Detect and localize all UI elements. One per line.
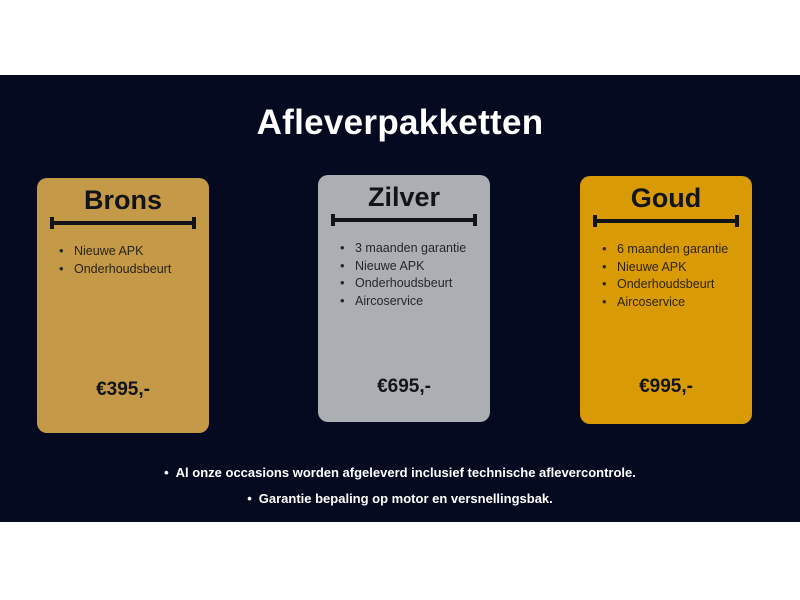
footnote-2: •Garantie bepaling op motor en versnelli… — [0, 486, 800, 512]
page-title: Afleverpakketten — [0, 103, 800, 143]
divider-cap-right-icon — [473, 214, 477, 226]
list-item: 3 maanden garantie — [340, 240, 490, 258]
package-price-zilver: €695,- — [318, 376, 490, 398]
feature-list-brons: Nieuwe APK Onderhoudsbeurt — [37, 229, 209, 278]
list-item: Nieuwe APK — [59, 243, 209, 261]
package-title-brons: Brons — [37, 178, 209, 215]
list-item: Onderhoudsbeurt — [340, 275, 490, 293]
package-price-goud: €995,- — [580, 376, 752, 398]
list-item: Onderhoudsbeurt — [602, 276, 752, 294]
divider-bar-icon — [331, 218, 477, 222]
footnote-1-text: Al onze occasions worden afgeleverd incl… — [176, 465, 636, 480]
divider-cap-right-icon — [735, 215, 739, 227]
list-item: Nieuwe APK — [602, 259, 752, 277]
list-item: Onderhoudsbeurt — [59, 261, 209, 279]
footnotes: •Al onze occasions worden afgeleverd inc… — [0, 460, 800, 512]
divider-bar-icon — [50, 221, 196, 225]
package-card-brons[interactable]: Brons Nieuwe APK Onderhoudsbeurt €395,- — [37, 178, 209, 433]
package-card-zilver[interactable]: Zilver 3 maanden garantie Nieuwe APK Ond… — [318, 175, 490, 422]
footnote-2-text: Garantie bepaling op motor en versnellin… — [259, 491, 553, 506]
list-item: 6 maanden garantie — [602, 241, 752, 259]
list-item: Aircoservice — [340, 293, 490, 311]
title-divider-goud — [593, 215, 739, 227]
divider-cap-right-icon — [192, 217, 196, 229]
feature-list-zilver: 3 maanden garantie Nieuwe APK Onderhouds… — [318, 226, 490, 310]
list-item: Nieuwe APK — [340, 258, 490, 276]
package-title-zilver: Zilver — [318, 175, 490, 212]
package-card-goud[interactable]: Goud 6 maanden garantie Nieuwe APK Onder… — [580, 176, 752, 424]
title-divider-zilver — [331, 214, 477, 226]
feature-list-goud: 6 maanden garantie Nieuwe APK Onderhouds… — [580, 227, 752, 311]
bullet-icon: • — [164, 460, 169, 486]
slide-root: Afleverpakketten Brons Nieuwe APK Onderh… — [0, 0, 800, 600]
dark-panel: Afleverpakketten Brons Nieuwe APK Onderh… — [0, 75, 800, 522]
footnote-1: •Al onze occasions worden afgeleverd inc… — [0, 460, 800, 486]
package-title-goud: Goud — [580, 176, 752, 213]
title-divider-brons — [50, 217, 196, 229]
bullet-icon: • — [247, 486, 252, 512]
divider-bar-icon — [593, 219, 739, 223]
package-price-brons: €395,- — [37, 379, 209, 401]
list-item: Aircoservice — [602, 294, 752, 312]
